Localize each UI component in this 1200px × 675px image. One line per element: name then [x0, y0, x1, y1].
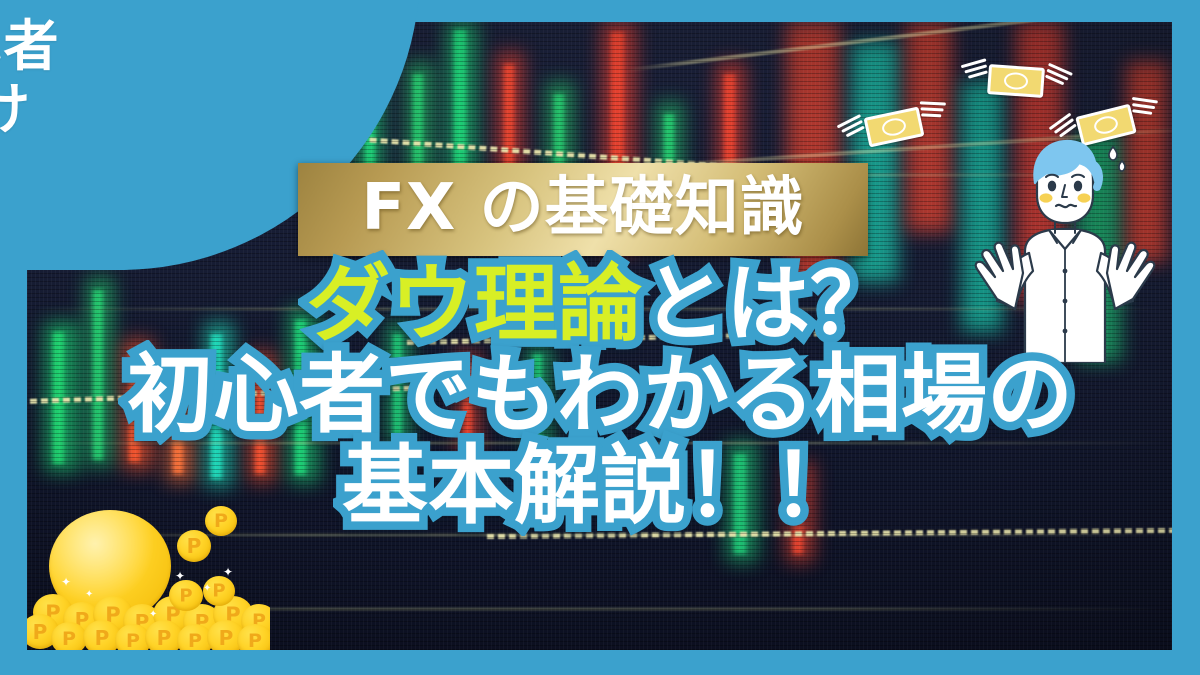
pile-coin — [169, 580, 203, 611]
beginner-badge-line2: 向け — [0, 81, 95, 137]
sparkle-icon: ✦ — [175, 570, 185, 582]
beginner-badge-line1: 初心者 — [0, 18, 95, 74]
thumbnail-stage: 初心者 向け FX の基礎知識 ✦ ✦ ✦ — [0, 0, 1200, 675]
sparkle-icon: ✦ — [61, 576, 71, 588]
headline-line-3: 基本解説！！ — [0, 443, 1200, 531]
flying-money-bill — [987, 64, 1045, 98]
pile-coin — [51, 622, 87, 650]
headline-line1-rest: とは？ — [642, 255, 894, 353]
money-note — [987, 64, 1045, 98]
sparkle-icon: ✦ — [223, 566, 233, 578]
floating-coin — [177, 530, 211, 562]
sparkle-icon: ✦ — [85, 590, 93, 600]
sparkle-icon: ✦ — [203, 584, 211, 594]
headline-highlight: ダウ理論 — [306, 255, 642, 353]
gold-banner-label: FX の基礎知識 — [361, 176, 804, 240]
headline-line-2: 初心者でもわかる相場の — [0, 352, 1200, 440]
beginner-badge-text: 初心者 向け — [0, 18, 95, 137]
gold-banner: FX の基礎知識 — [298, 163, 868, 256]
headline: ダウ理論とは？ 初心者でもわかる相場の 基本解説！！ — [0, 262, 1200, 531]
headline-line-1: ダウ理論とは？ — [0, 262, 1200, 348]
sparkle-icon: ✦ — [149, 610, 157, 620]
pile-coin — [237, 624, 270, 650]
